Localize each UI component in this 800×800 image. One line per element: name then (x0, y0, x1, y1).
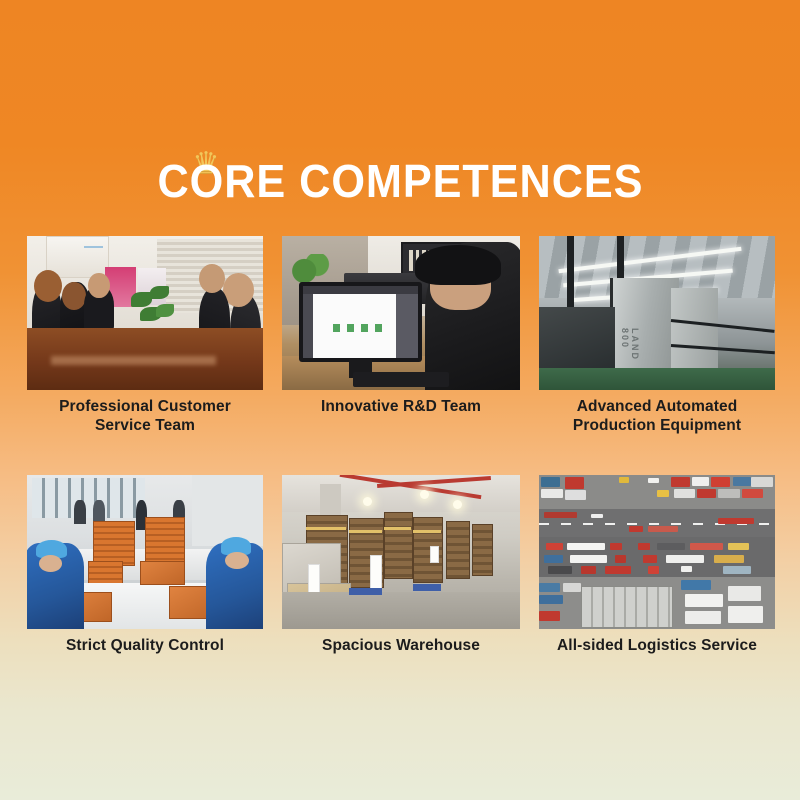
caption-line-1: Spacious Warehouse (282, 636, 520, 655)
competence-image-rd-team (282, 236, 520, 390)
competences-grid: Professional Customer Service Team (27, 236, 775, 655)
page-title: CORE COMPETENCES (157, 152, 643, 210)
competence-caption: Advanced Automated Production Equipment (539, 397, 775, 435)
caption-line-2: Production Equipment (539, 416, 775, 435)
competence-caption: Strict Quality Control (27, 636, 263, 655)
competence-card-professional-customer-service-team[interactable]: Professional Customer Service Team (27, 236, 263, 435)
core-competences-banner: ♛ CORE COMPETENCES (0, 0, 800, 800)
caption-line-2: Service Team (27, 416, 263, 435)
caption-line-1: All-sided Logistics Service (539, 636, 775, 655)
competence-caption: Innovative R&D Team (282, 397, 520, 416)
competence-caption: Professional Customer Service Team (27, 397, 263, 435)
competence-card-spacious-warehouse[interactable]: Spacious Warehouse (282, 475, 520, 655)
banner-header: ♛ CORE COMPETENCES (0, 152, 800, 210)
competence-image-customer-service-team (27, 236, 263, 390)
competence-card-strict-quality-control[interactable]: Strict Quality Control (27, 475, 263, 655)
competence-caption: Spacious Warehouse (282, 636, 520, 655)
competence-card-all-sided-logistics-service[interactable]: All-sided Logistics Service (539, 475, 775, 655)
caption-line-1: Advanced Automated (539, 397, 775, 416)
competence-card-advanced-automated-production-equipment[interactable]: LAND 800 Advanced Automated Production E… (539, 236, 775, 435)
caption-line-1: Innovative R&D Team (282, 397, 520, 416)
caption-line-1: Strict Quality Control (27, 636, 263, 655)
competence-image-warehouse (282, 475, 520, 629)
caption-line-1: Professional Customer (27, 397, 263, 416)
competence-caption: All-sided Logistics Service (539, 636, 775, 655)
competence-card-innovative-rd-team[interactable]: Innovative R&D Team (282, 236, 520, 435)
competences-row-2: Strict Quality Control (27, 475, 775, 655)
competences-row-1: Professional Customer Service Team (27, 236, 775, 435)
competence-image-logistics-service (539, 475, 775, 629)
competence-image-quality-control (27, 475, 263, 629)
competence-image-production-equipment: LAND 800 (539, 236, 775, 390)
